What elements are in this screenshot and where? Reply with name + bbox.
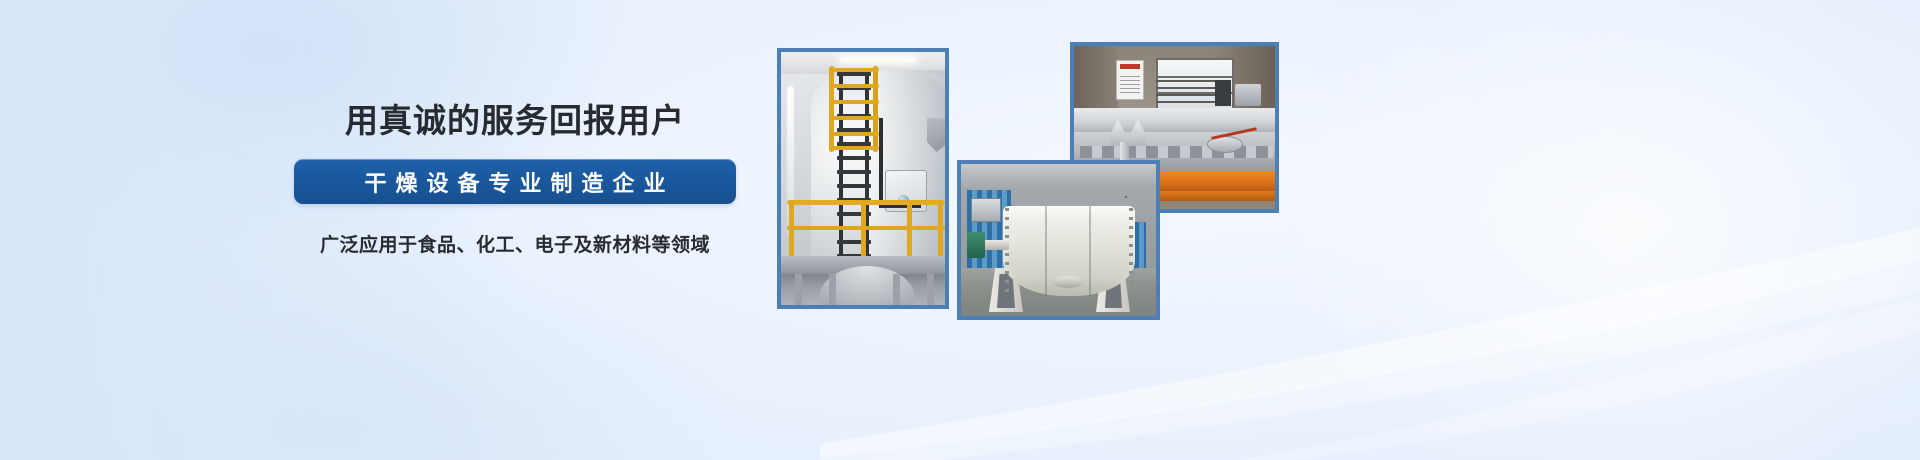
- hero-copy-block: 用真诚的服务回报用户 干燥设备专业制造企业 广泛应用于食品、化工、电子及新材料等…: [275, 104, 755, 257]
- photo-ribbon-mixer-image: [961, 164, 1156, 316]
- slogan-pill-label: 干燥设备专业制造企业: [355, 166, 674, 198]
- photo-spray-drying-tower[interactable]: [777, 48, 949, 309]
- hero-banner: 用真诚的服务回报用户 干燥设备专业制造企业 广泛应用于食品、化工、电子及新材料等…: [0, 0, 1920, 460]
- background-glow-right: [1280, 0, 1920, 460]
- hero-headline: 用真诚的服务回报用户: [275, 104, 755, 137]
- platform-railing: [787, 200, 945, 258]
- ladder-safety-cage: [829, 66, 879, 152]
- hero-subtitle: 广泛应用于食品、化工、电子及新材料等领域: [275, 230, 755, 257]
- slogan-pill-bar[interactable]: 干燥设备专业制造企业: [294, 159, 736, 204]
- photo-ribbon-mixer[interactable]: [957, 160, 1160, 320]
- photo-spray-drying-tower-image: [781, 52, 945, 305]
